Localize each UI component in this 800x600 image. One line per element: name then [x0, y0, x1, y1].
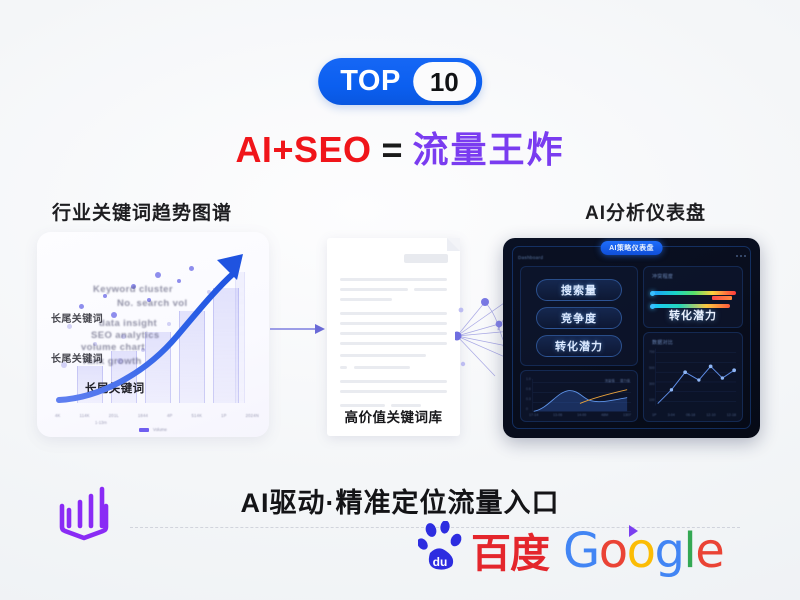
area-x-axis: 17-14 13-06 14-00 48M 1307 [529, 413, 631, 417]
line-x-axis: 1P 3-04 06-18 12-10 12-18 [652, 413, 736, 417]
top-badge-number: 10 [413, 62, 476, 101]
baidu-logo-text: 百度 [471, 535, 549, 573]
x-tick: 13-06 [553, 413, 562, 417]
x-tick: 1844 [138, 413, 148, 418]
dashboard-subtitle: Dashboard [518, 255, 543, 260]
metric-pill-competition[interactable]: 竞争度 [536, 307, 622, 329]
bar-chart-pedestal-icon [48, 480, 120, 546]
x-tick: 514K [192, 413, 203, 418]
growth-arrow-icon [37, 232, 269, 437]
page-title: AI+SEO=流量王炸 [0, 128, 800, 171]
gauge-handle-primary[interactable] [650, 291, 655, 296]
google-letter: e [695, 523, 723, 579]
keyword-library-document: 高价值关键词库 [327, 238, 460, 436]
baidu-wordmark: du [433, 555, 448, 569]
doc-header-chip [404, 254, 448, 263]
dashboard-badge: AI策略仪表盘 [600, 241, 663, 255]
gauge-alert-tag [712, 296, 732, 300]
gauge-panel: 冲突程度 转化潜力 [643, 266, 743, 328]
trend-legend: Volume [139, 427, 167, 432]
area-chart-panel: 1.0 0.6 0.3 0 流量值 潜力值 17-14 13-06 14-00 [520, 370, 638, 422]
x-tick: 12-10 [706, 413, 715, 417]
x-tick: 4K [55, 413, 61, 418]
google-letter: l [683, 523, 695, 579]
metric-pill-search-volume[interactable]: 搜索量 [536, 279, 622, 301]
top-rank-badge: TOP 10 [318, 58, 482, 105]
x-tick: 06-18 [686, 413, 695, 417]
line-chart-svg [644, 333, 742, 421]
title-right-term: 流量王炸 [413, 129, 565, 170]
x-tick: 12-18 [727, 413, 736, 417]
x-tick: 14-00 [577, 413, 586, 417]
title-left-term: AI+SEO [235, 129, 371, 170]
metric-pill-conversion-potential[interactable]: 转化潜力 [536, 335, 622, 357]
x-tick: 201L [109, 413, 119, 418]
metric-pills-panel: 搜索量 竞争度 转化潜力 [520, 266, 638, 366]
play-triangle-icon [629, 525, 638, 537]
google-letter: g [654, 523, 683, 579]
gauge-bar-primary [652, 291, 736, 295]
x-tick: 1P [652, 413, 656, 417]
trend-x-axis-label: 1-13m [95, 420, 107, 425]
x-tick: 1307 [623, 413, 631, 417]
x-tick: 48M [601, 413, 608, 417]
flow-arrow-icon [270, 322, 326, 336]
title-operator: = [372, 129, 413, 170]
dashboard-menu-icon[interactable] [736, 255, 746, 257]
trend-x-axis: 4K 114K 201L 1844 4P 514K 1P 2024N [55, 413, 259, 418]
x-tick: 2024N [246, 413, 259, 418]
x-tick: 1P [221, 413, 227, 418]
x-tick: 4P [167, 413, 173, 418]
google-letter: o [599, 523, 627, 579]
gauge-panel-caption: 冲突程度 [652, 273, 673, 280]
baidu-paw-icon: du [418, 521, 470, 573]
document-title: 高价值关键词库 [327, 406, 460, 426]
google-letter: G [563, 523, 599, 579]
bottom-tagline: AI驱动·精准定位流量入口 [0, 481, 800, 520]
trend-chart-card: Keyword cluster No. search vol data insi… [37, 232, 269, 437]
legend-swatch-icon [139, 428, 149, 432]
section-heading-trend: 行业关键词趋势图谱 [52, 198, 232, 225]
line-chart-panel: 数据对比 700 500 300 100 [643, 332, 743, 422]
section-heading-dashboard: AI分析仪表盘 [585, 198, 706, 225]
legend-label: Volume [153, 427, 167, 432]
x-tick: 3-04 [668, 413, 675, 417]
gauge-overlay-label: 转化潜力 [644, 307, 742, 323]
baidu-logo: du 百度 [418, 521, 549, 573]
x-tick: 114K [80, 413, 90, 418]
google-logo: Google [563, 529, 723, 573]
x-tick: 17-14 [529, 413, 538, 417]
search-engine-logos: du 百度 Google [418, 521, 723, 573]
ai-dashboard-card: AI策略仪表盘 Dashboard 搜索量 竞争度 转化潜力 1.0 0.6 0… [503, 238, 760, 438]
top-badge-word: TOP [340, 67, 413, 96]
